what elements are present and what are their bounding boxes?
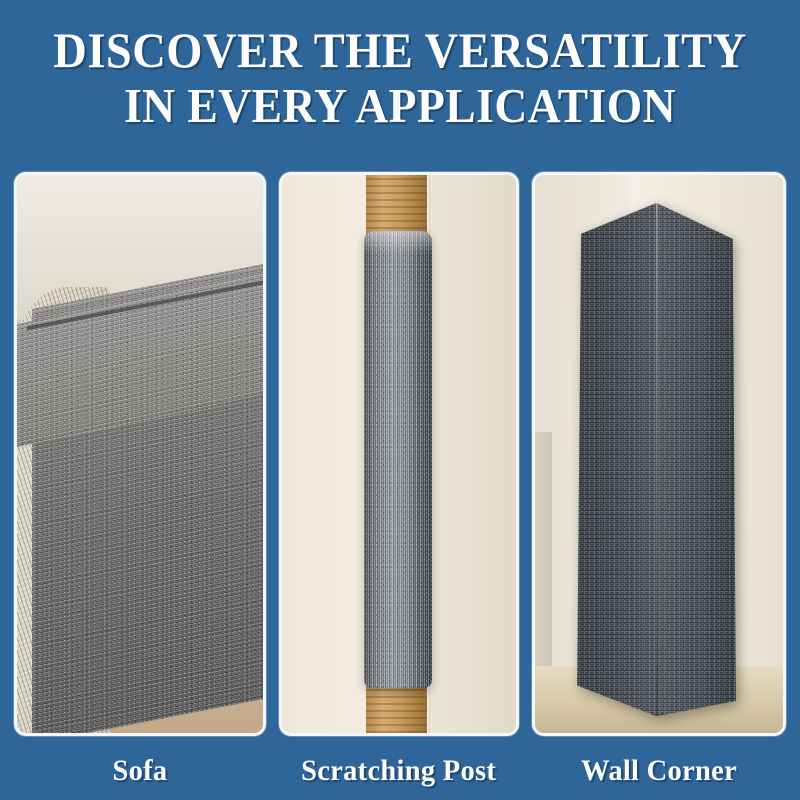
headline-line-2: IN EVERY APPLICATION — [28, 78, 772, 134]
carpet-speckle-texture — [364, 231, 432, 689]
product-feature-poster: DISCOVER THE VERSATILITY IN EVERY APPLIC… — [0, 0, 800, 800]
sleeve-top-highlight — [364, 231, 432, 254]
panel-wall-corner[interactable] — [532, 172, 786, 736]
carpet-speckle-texture-left — [577, 203, 656, 716]
corner-guard-right-face — [657, 203, 736, 716]
carpet-speckle-texture-right — [657, 203, 736, 716]
caption-scratching-post-label: Scratching Post — [301, 754, 496, 788]
caption-scratching-post: Scratching Post — [279, 741, 519, 800]
panel-scratching-post[interactable] — [279, 172, 519, 736]
headline-line-1: DISCOVER THE VERSATILITY — [28, 22, 772, 78]
caption-sofa-label: Sofa — [113, 754, 168, 788]
caption-wall-corner: Wall Corner — [532, 741, 786, 800]
corner-guard-fold-ridge — [656, 203, 658, 716]
caption-wall-corner-label: Wall Corner — [581, 754, 737, 788]
panel-caption-row: Sofa Scratching Post Wall Corner — [0, 741, 800, 800]
photo-sofa-application — [17, 175, 263, 733]
photo-scratching-post-application — [282, 175, 516, 733]
application-panel-row — [0, 172, 800, 736]
panel-sofa[interactable] — [14, 172, 266, 736]
carpet-corner-guard — [577, 203, 736, 716]
page-title: DISCOVER THE VERSATILITY IN EVERY APPLIC… — [0, 22, 800, 134]
photo-wall-corner-application — [535, 175, 783, 733]
corner-guard-left-face — [577, 203, 656, 716]
caption-sofa: Sofa — [14, 741, 266, 800]
carpet-sleeve-post — [364, 231, 432, 689]
